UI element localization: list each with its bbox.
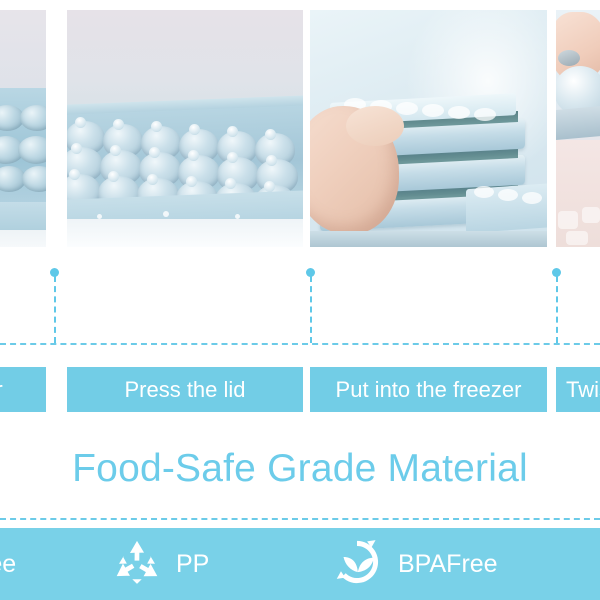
connector-line-1 xyxy=(54,276,56,343)
step-label-1[interactable]: r xyxy=(0,367,46,412)
step-label-1-text: r xyxy=(0,379,3,401)
section-heading: Food-Safe Grade Material xyxy=(0,447,600,491)
step-label-3-text: Put into the freezer xyxy=(336,379,522,401)
step-label-4-text: Twist xyxy=(566,379,600,401)
badge-bpa-free-left-text: ree xyxy=(0,552,16,577)
product-infographic: r Press the lid Put into the freezer Twi… xyxy=(0,0,600,600)
step-label-2-text: Press the lid xyxy=(124,379,245,401)
connector-divider xyxy=(0,343,600,345)
connector-line-2 xyxy=(310,276,312,343)
badge-bpa-free-text: BPAFree xyxy=(398,552,498,577)
step-photo-3 xyxy=(310,10,547,247)
leaf-eco-icon xyxy=(330,535,384,594)
photo-strip xyxy=(0,0,600,343)
badge-pp: PP xyxy=(112,528,209,600)
step-label-3[interactable]: Put into the freezer xyxy=(310,367,547,412)
step-label-4[interactable]: Twist xyxy=(556,367,600,412)
badge-bpa-free-left: ree xyxy=(0,528,16,600)
badge-pp-text: PP xyxy=(176,552,209,577)
material-badge-bar: ree PP xyxy=(0,528,600,600)
step-photo-2 xyxy=(67,10,303,247)
badge-bpa-free: BPAFree xyxy=(330,528,498,600)
step-photo-4 xyxy=(556,10,600,247)
step-label-row: r Press the lid Put into the freezer Twi… xyxy=(0,367,600,412)
step-label-2[interactable]: Press the lid xyxy=(67,367,303,412)
step-photo-1 xyxy=(0,10,46,247)
connector-line-3 xyxy=(556,276,558,343)
badge-bar-divider xyxy=(0,518,600,520)
recycle-icon xyxy=(112,537,162,592)
